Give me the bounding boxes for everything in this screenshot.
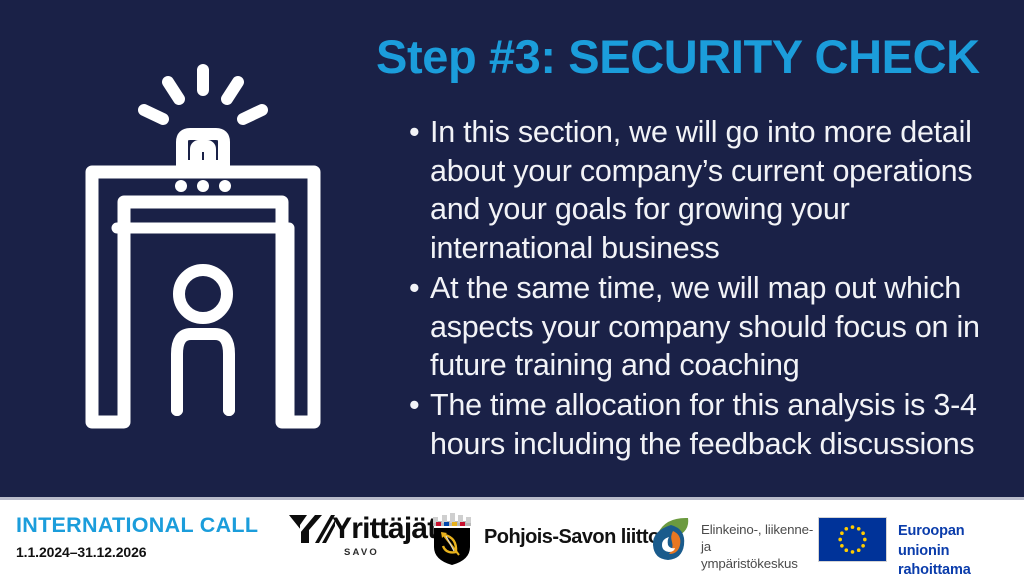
slide-content-panel: Step #3: SECURITY CHECK • In this sectio… — [0, 0, 1024, 497]
eu-text-line-1: Euroopan unionin — [898, 522, 1018, 561]
pohjois-savon-liitto-text: Pohjois-Savon liitto — [484, 526, 660, 549]
list-item: • At the same time, we will map out whic… — [400, 269, 990, 385]
page-title: Step #3: SECURITY CHECK — [376, 30, 976, 85]
international-call-title: INTERNATIONAL CALL — [16, 514, 286, 538]
ely-text-line-2: ympäristökeskus — [701, 555, 821, 572]
yrittajat-logo: Yrittäjät SAVO — [288, 510, 433, 568]
bullet-marker-icon: • — [409, 113, 419, 152]
list-item-text: The time allocation for this analysis is… — [430, 388, 977, 461]
eu-text-line-2: rahoittama — [898, 561, 1018, 581]
ely-keskus-logo: Elinkeino-, liikenne- ja ympäristökeskus — [650, 513, 820, 565]
ely-keskus-text: Elinkeino-, liikenne- ja ympäristökeskus — [701, 521, 821, 572]
bullet-marker-icon: • — [409, 386, 419, 425]
footer-logo-bar: INTERNATIONAL CALL 1.1.2024–31.12.2026 Y… — [0, 500, 1024, 576]
eu-funding-text: Euroopan unionin rahoittama — [898, 522, 1018, 581]
list-item-text: At the same time, we will map out which … — [430, 271, 980, 382]
pohjois-savon-liitto-logo: Pohjois-Savon liitto — [428, 511, 638, 566]
pohjois-savo-crest-icon — [428, 511, 476, 566]
slide: Step #3: SECURITY CHECK • In this sectio… — [0, 0, 1024, 576]
list-item-text: In this section, we will go into more de… — [430, 115, 972, 265]
list-item: • The time allocation for this analysis … — [400, 386, 990, 463]
yrittajat-wordmark: Yrittäjät — [332, 510, 437, 548]
yrittajat-region-label: SAVO — [344, 547, 379, 558]
ely-text-line-1: Elinkeino-, liikenne- ja — [701, 521, 821, 555]
ely-leaf-icon — [650, 515, 694, 562]
european-union-funding-logo: Euroopan unionin rahoittama — [818, 516, 1018, 562]
bullet-list: • In this section, we will go into more … — [400, 113, 990, 465]
list-item: • In this section, we will go into more … — [400, 113, 990, 268]
eu-flag-icon — [818, 517, 887, 562]
security-gate-scanner-icon — [78, 62, 328, 434]
bullet-marker-icon: • — [409, 269, 419, 308]
yrittajat-y-mark-icon — [288, 514, 336, 544]
international-call-dates: 1.1.2024–31.12.2026 — [16, 544, 286, 560]
international-call-block: INTERNATIONAL CALL 1.1.2024–31.12.2026 — [16, 514, 286, 560]
